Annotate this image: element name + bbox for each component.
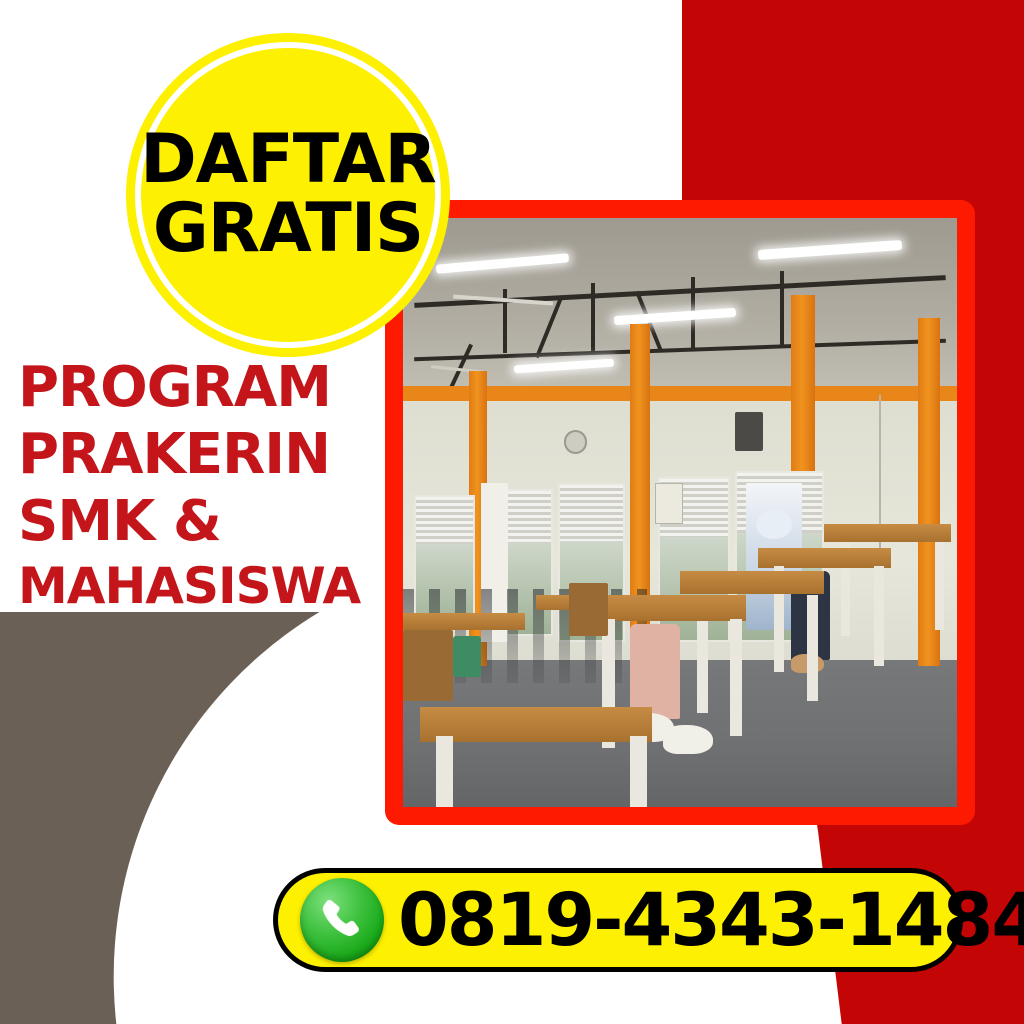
window-blind (505, 491, 551, 543)
chair-back (403, 630, 453, 701)
desk-leg (807, 595, 818, 701)
banner-graphic (756, 510, 791, 539)
wall-speaker (735, 412, 763, 450)
headline-line-3: SMK & (18, 494, 418, 550)
green-chair (453, 636, 481, 677)
classroom-photo (403, 218, 957, 807)
truss-strut (780, 271, 784, 348)
desk-leg (630, 736, 647, 807)
headline-line-1: PROGRAM (18, 360, 418, 416)
chair-back (569, 583, 608, 636)
phone-handset-icon (300, 878, 384, 962)
desk-leg (935, 542, 944, 630)
window-blind (560, 485, 622, 541)
desk-leg (436, 736, 453, 807)
student-sneaker (663, 725, 713, 754)
wall-clock-icon (564, 430, 587, 454)
electrical-box (655, 483, 683, 524)
phone-contact-pill[interactable]: 0819-4343-1484 (273, 868, 963, 972)
background-desk (403, 613, 525, 631)
phone-number: 0819-4343-1484 (398, 878, 1024, 963)
badge-line-1: DAFTAR (140, 127, 436, 192)
student-desk (586, 595, 747, 621)
student-desk (824, 524, 951, 542)
daftar-gratis-badge[interactable]: DAFTAR GRATIS (126, 33, 450, 357)
promotional-poster: DAFTAR GRATIS PROGRAM PRAKERIN SMK & MAH… (0, 0, 1024, 1024)
headline-line-4: MAHASISWA (18, 561, 418, 611)
badge-inner: DAFTAR GRATIS (143, 50, 433, 340)
desk-leg (730, 619, 742, 737)
headline-line-2: PRAKERIN (18, 427, 418, 483)
student-desk-foreground (420, 707, 653, 742)
headline-block: PROGRAM PRAKERIN SMK & MAHASISWA (18, 360, 418, 622)
truss-strut (591, 283, 595, 354)
badge-line-2: GRATIS (153, 195, 423, 263)
student-desk (680, 571, 824, 593)
photo-frame (385, 200, 975, 825)
student-trousers (630, 624, 680, 718)
desk-leg (874, 566, 884, 666)
window-blind (416, 497, 473, 544)
